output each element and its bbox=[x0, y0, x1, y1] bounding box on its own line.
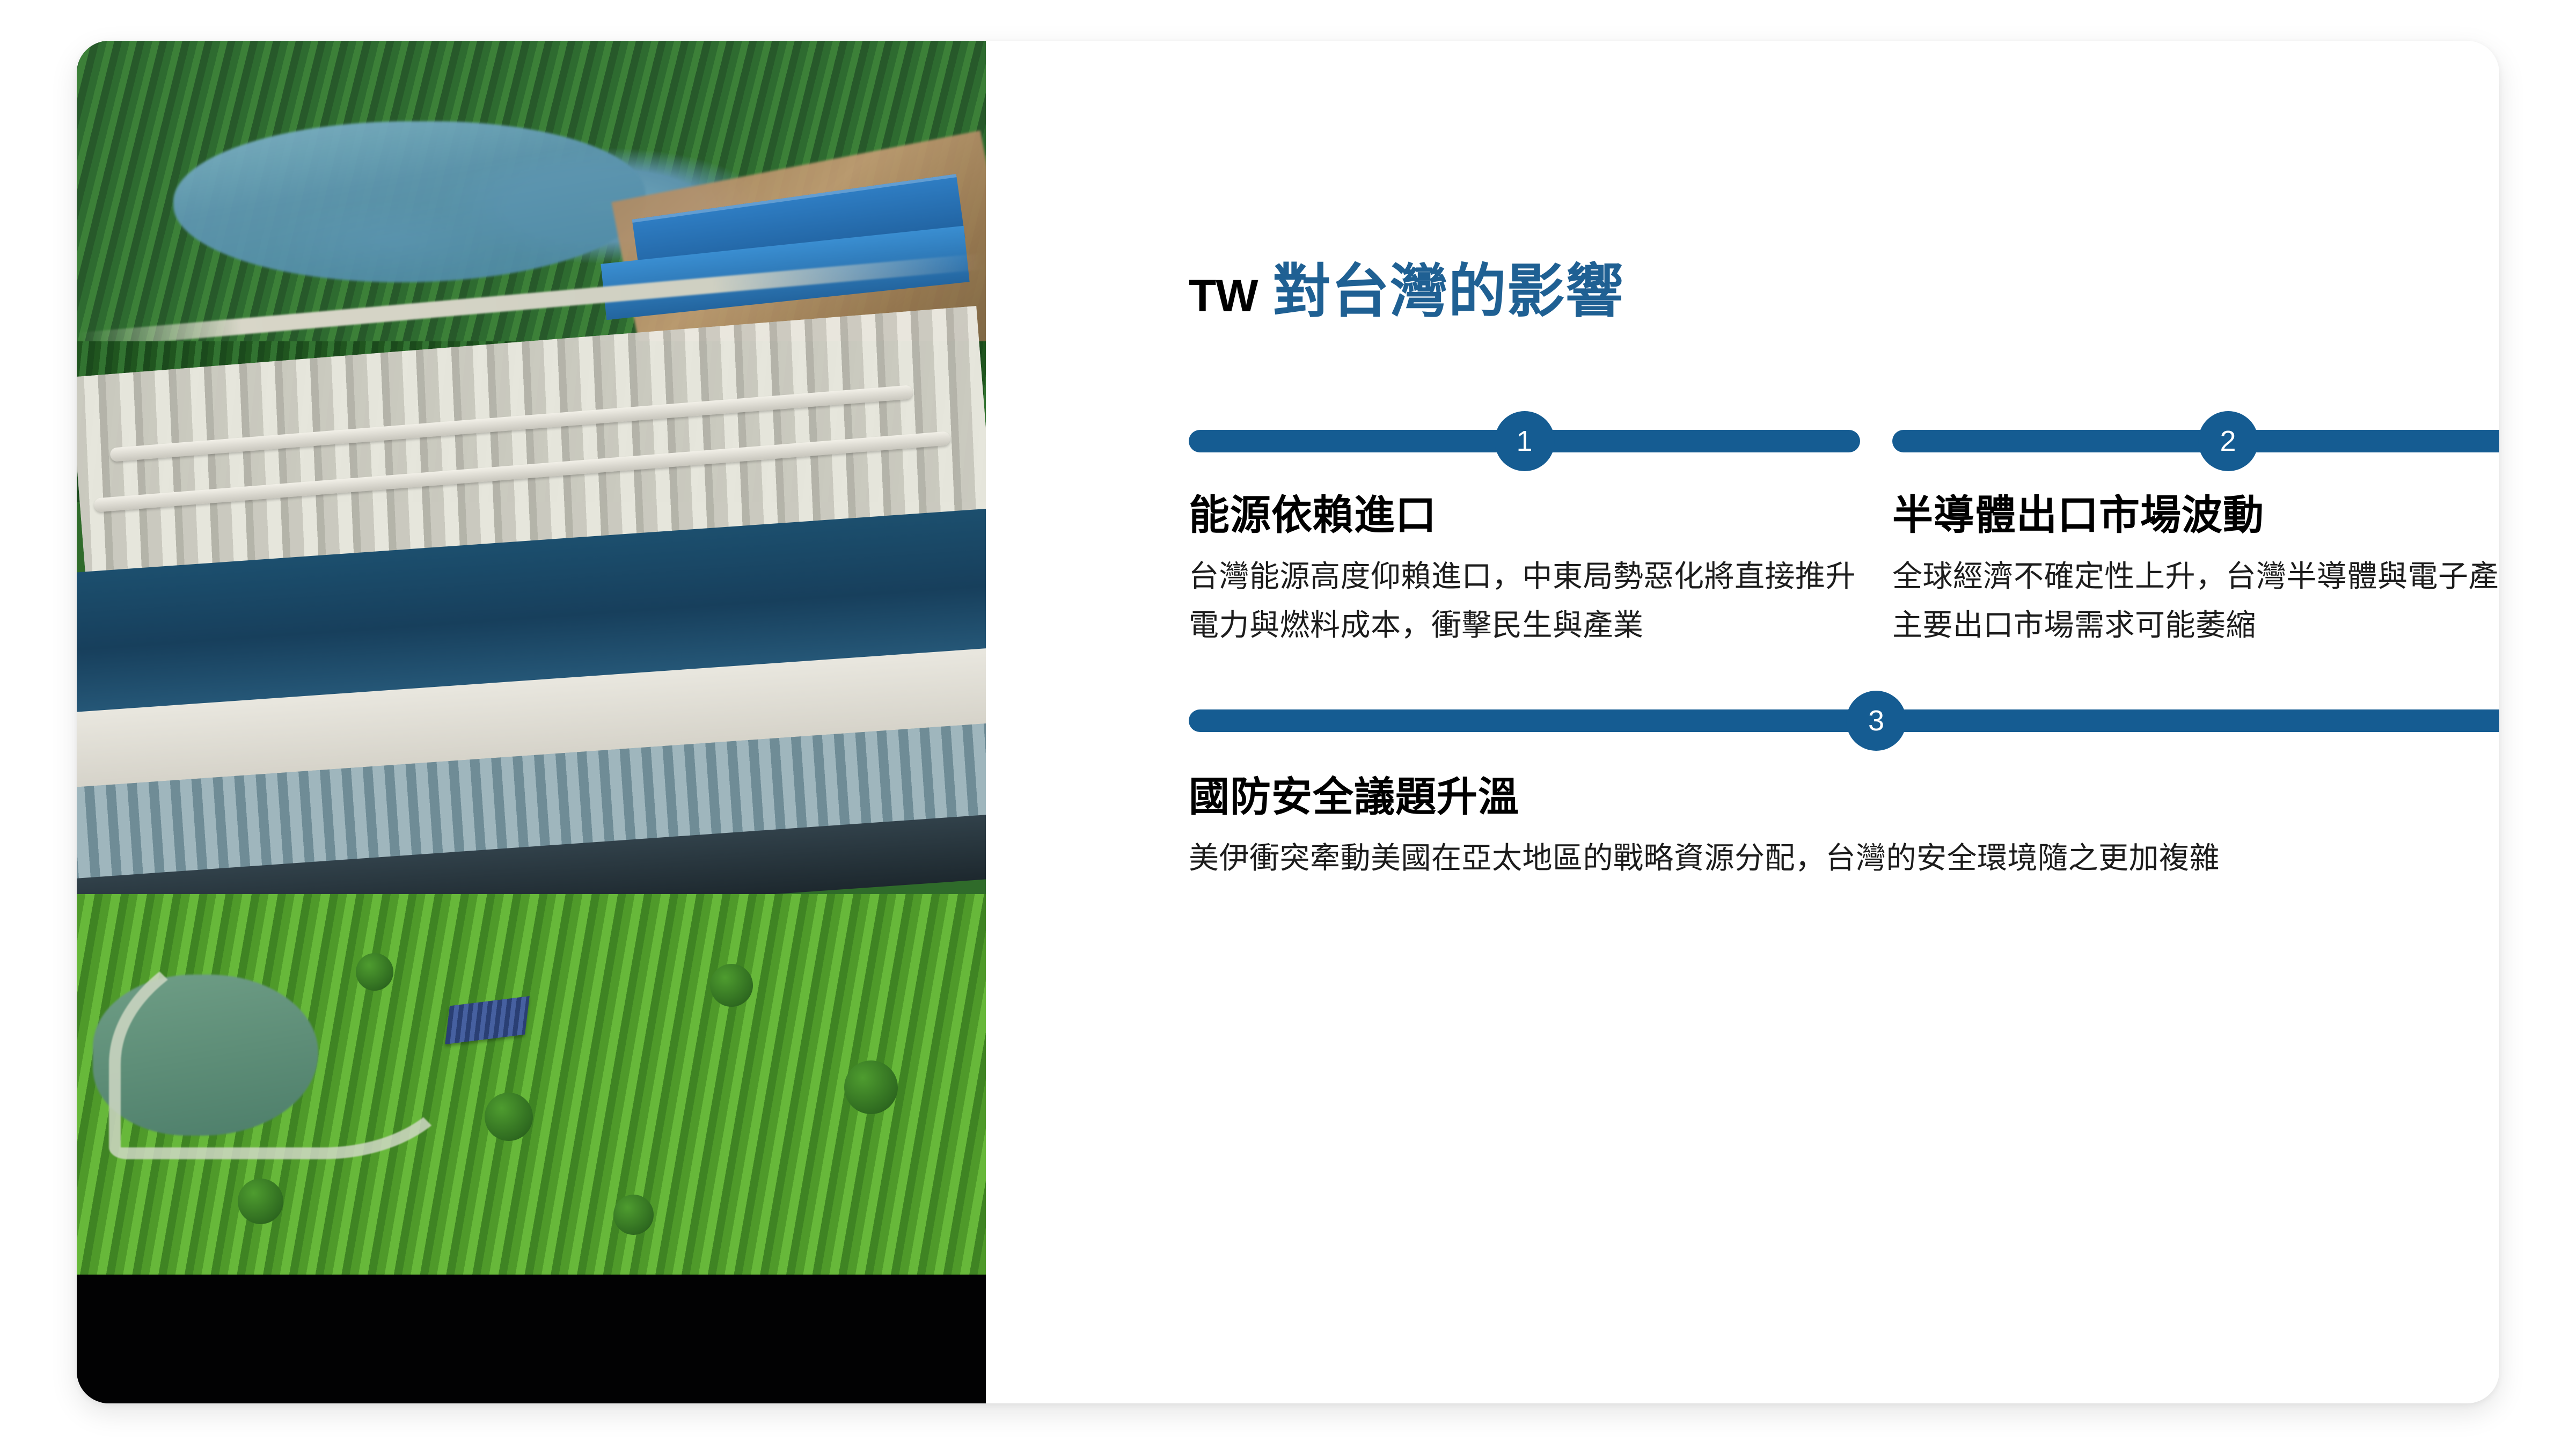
tree bbox=[613, 1195, 654, 1235]
step-badge-1: 1 bbox=[1495, 411, 1555, 471]
photo-letterbox-band bbox=[77, 1275, 986, 1403]
tree bbox=[485, 1093, 533, 1141]
divider-bar bbox=[1189, 709, 2499, 732]
impact-body-3: 美伊衝突牽動美國在亞太地區的戰略資源分配，台灣的安全環境隨之更加複雜 bbox=[1189, 834, 2316, 883]
impact-heading-2: 半導體出口市場波動 bbox=[1892, 493, 2499, 538]
tree bbox=[356, 953, 393, 991]
impact-row-bottom: 3 國防安全議題升溫 美伊衝突牽動美國在亞太地區的戰略資源分配，台灣的安全環境隨… bbox=[1189, 691, 2499, 883]
impact-item-1: 1 能源依賴進口 台灣能源高度仰賴進口，中東局勢惡化將直接推升電力與燃料成本，衝… bbox=[1189, 411, 1860, 650]
impact-heading-1: 能源依賴進口 bbox=[1189, 493, 1860, 538]
impact-heading-3: 國防安全議題升溫 bbox=[1189, 774, 2499, 820]
page-title-text: 對台灣的影響 bbox=[1273, 245, 1624, 328]
impact-grid: 1 能源依賴進口 台灣能源高度仰賴進口，中東局勢惡化將直接推升電力與燃料成本，衝… bbox=[1189, 411, 2499, 882]
region-tag: TW bbox=[1189, 270, 1258, 322]
impact-item-3: 3 國防安全議題升溫 美伊衝突牽動美國在亞太地區的戰略資源分配，台灣的安全環境隨… bbox=[1189, 691, 2499, 883]
tree bbox=[844, 1060, 898, 1114]
step-badge-2: 2 bbox=[2198, 411, 2258, 471]
step-badge-3: 3 bbox=[1846, 691, 1906, 751]
aerial-fab-photo bbox=[77, 41, 986, 1287]
divider-3: 3 bbox=[1189, 691, 2499, 751]
tree bbox=[238, 1179, 283, 1224]
content-panel: TW 對台灣的影響 1 能源依賴進口 台灣能源高度仰賴進口，中東局勢惡化將直接推… bbox=[986, 41, 2499, 1403]
impact-row-top: 1 能源依賴進口 台灣能源高度仰賴進口，中東局勢惡化將直接推升電力與燃料成本，衝… bbox=[1189, 411, 2499, 650]
tree bbox=[710, 964, 753, 1007]
impact-item-2: 2 半導體出口市場波動 全球經濟不確定性上升，台灣半導體與電子產品的主要出口市場… bbox=[1892, 411, 2499, 650]
page-title: TW 對台灣的影響 bbox=[1189, 245, 1624, 328]
media-panel bbox=[77, 41, 986, 1403]
slide-card: TW 對台灣的影響 1 能源依賴進口 台灣能源高度仰賴進口，中東局勢惡化將直接推… bbox=[77, 41, 2499, 1403]
divider-bar bbox=[1892, 430, 2499, 452]
impact-body-2: 全球經濟不確定性上升，台灣半導體與電子產品的主要出口市場需求可能萎縮 bbox=[1892, 552, 2499, 649]
divider-1: 1 bbox=[1189, 411, 1860, 471]
impact-body-1: 台灣能源高度仰賴進口，中東局勢惡化將直接推升電力與燃料成本，衝擊民生與產業 bbox=[1189, 552, 1860, 649]
divider-2: 2 bbox=[1892, 411, 2499, 471]
